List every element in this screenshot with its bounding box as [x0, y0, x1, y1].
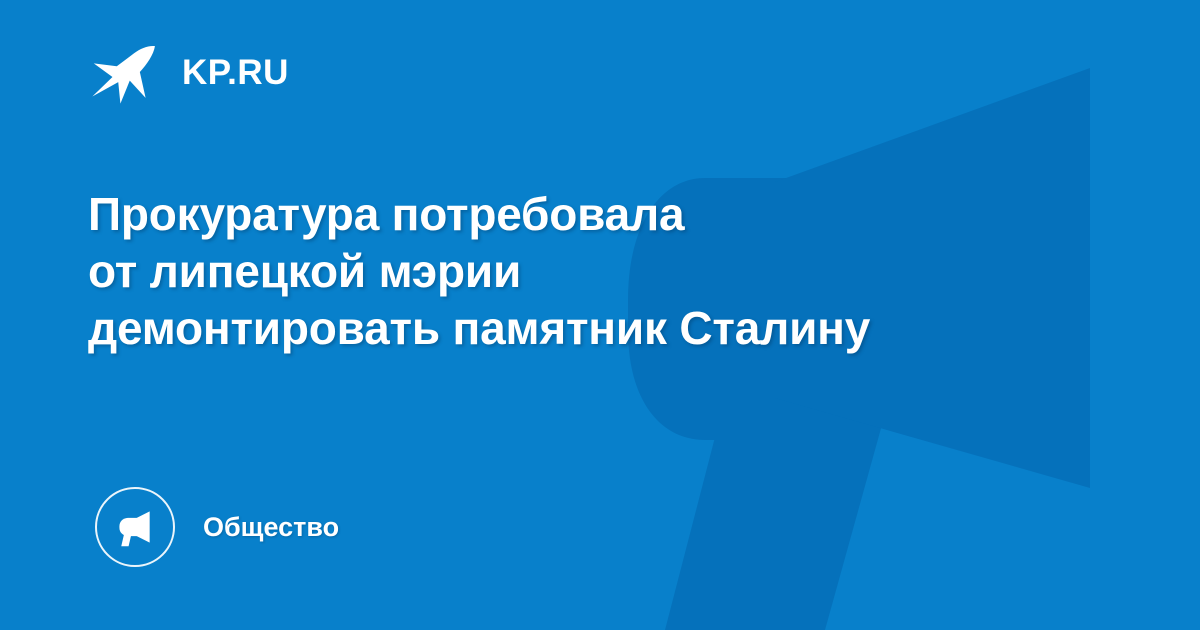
- headline-line-1: Прокуратура потребовала: [88, 186, 1098, 243]
- brand-lockup[interactable]: KP.RU: [88, 36, 289, 108]
- rubric-badge[interactable]: Общество: [95, 484, 339, 570]
- rubric-label: Общество: [203, 514, 339, 541]
- megaphone-icon: [113, 505, 157, 549]
- rubric-icon-circle: [95, 487, 175, 567]
- headline: Прокуратура потребовала от липецкой мэри…: [88, 186, 1098, 357]
- headline-line-2: от липецкой мэрии: [88, 243, 1098, 300]
- brand-name: KP.RU: [182, 55, 289, 90]
- headline-line-3: демонтировать памятник Сталину: [88, 300, 1098, 357]
- swallow-bird-icon: [88, 36, 160, 108]
- share-card: KP.RU Прокуратура потребовала от липецко…: [0, 0, 1200, 630]
